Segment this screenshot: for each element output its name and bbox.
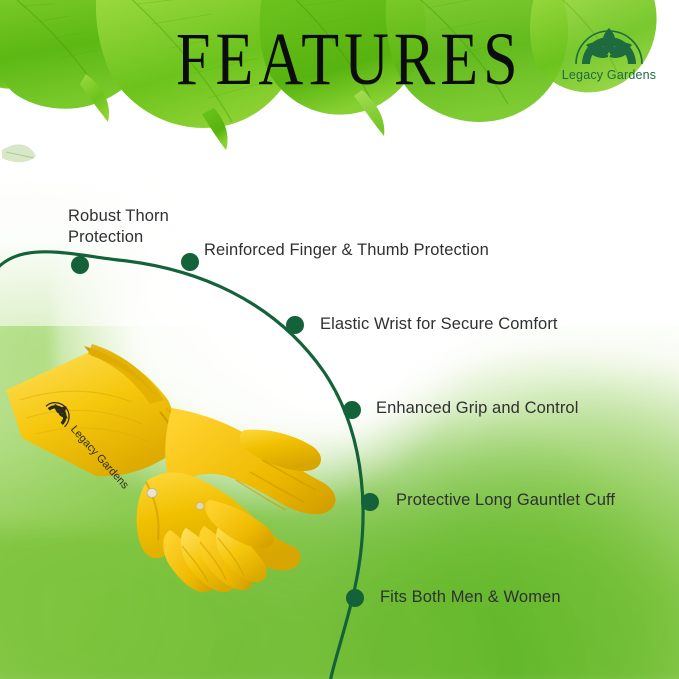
feature-label-elastic-wrist: Elastic Wrist for Secure Comfort <box>320 314 558 335</box>
feature-dot-reinforced-finger-thumb <box>181 253 199 271</box>
feature-dot-long-gauntlet-cuff <box>361 493 379 511</box>
feature-label-enhanced-grip: Enhanced Grip and Control <box>376 398 578 419</box>
page-title: FEATURES <box>176 22 523 98</box>
brand-name: Legacy Gardens <box>553 68 665 82</box>
brand-logo: Legacy Gardens <box>553 20 665 82</box>
feature-dot-robust-thorn-protection <box>71 256 89 274</box>
product-image-gloves: Legacy Gardens <box>0 330 360 650</box>
features-poster: FEATURES Legacy Gardens <box>0 0 679 679</box>
leaf-arch-emblem-icon <box>570 20 648 66</box>
feature-label-fits-men-women: Fits Both Men & Women <box>380 587 561 608</box>
feature-label-long-gauntlet-cuff: Protective Long Gauntlet Cuff <box>396 490 615 511</box>
feature-label-robust-thorn-protection: Robust Thorn Protection <box>68 206 169 247</box>
feature-label-reinforced-finger-thumb: Reinforced Finger & Thumb Protection <box>204 240 489 261</box>
